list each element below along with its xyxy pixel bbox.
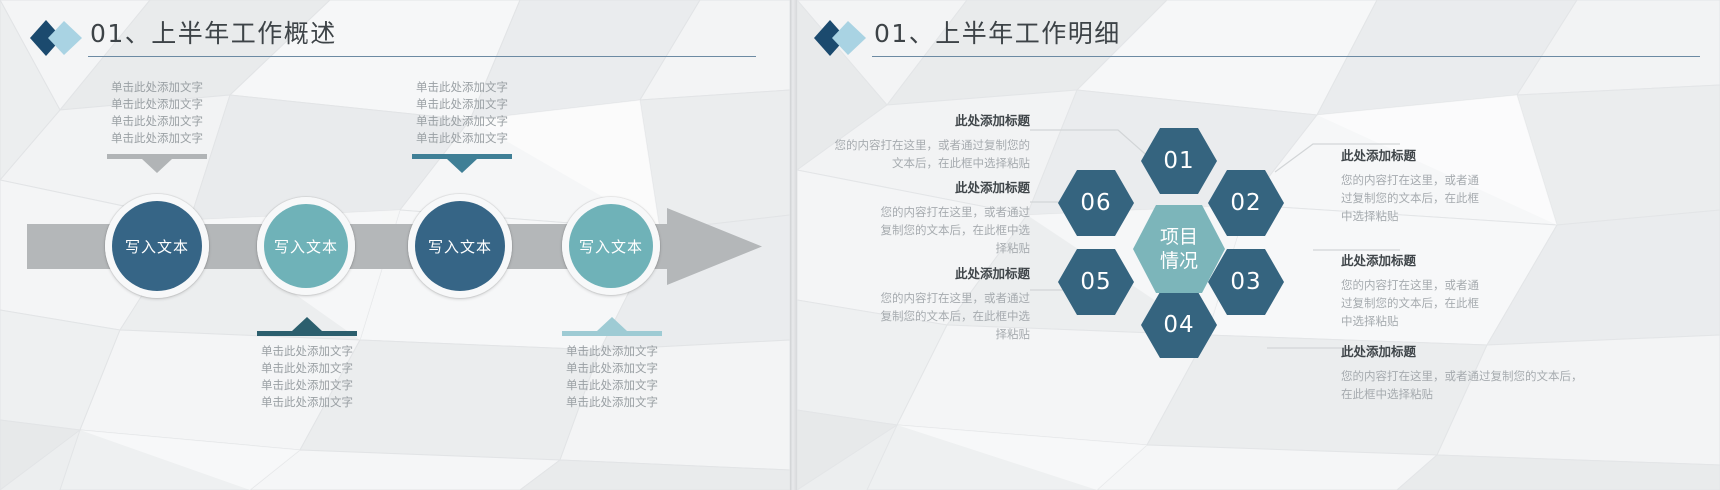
node-label-1: 写入文本	[112, 201, 202, 291]
callout-1: 单击此处添加文字 单击此处添加文字 单击此处添加文字 单击此处添加文字	[87, 79, 227, 173]
process-node-4[interactable]: 写入文本	[562, 197, 660, 295]
diamond-bullet-icon	[812, 18, 872, 58]
hexagon-center-line1: 项目	[1160, 226, 1198, 248]
detail-text-4-heading: 此处添加标题	[1341, 145, 1481, 164]
process-node-3[interactable]: 写入文本	[408, 194, 512, 298]
process-node-1[interactable]: 写入文本	[105, 194, 209, 298]
detail-text-1-body: 您的内容打在这里，或者通过复制您的文本后，在此框中选择粘贴	[830, 136, 1030, 172]
detail-text-3-body: 您的内容打在这里，或者通过复制您的文本后，在此框中选择粘贴	[880, 289, 1030, 343]
callout-line: 单击此处添加文字	[392, 96, 532, 113]
detail-text-4-body: 您的内容打在这里，或者通过复制您的文本后，在此框中选择粘贴	[1341, 171, 1481, 225]
detail-text-6-heading: 此处添加标题	[1341, 341, 1591, 360]
detail-text-3: 此处添加标题 您的内容打在这里，或者通过复制您的文本后，在此框中选择粘贴	[880, 263, 1030, 343]
detail-text-3-heading: 此处添加标题	[880, 263, 1030, 282]
process-node-2[interactable]: 写入文本	[257, 197, 355, 295]
hexagon-05-number: 05	[1080, 269, 1111, 295]
node-label-2: 写入文本	[264, 204, 348, 288]
detail-text-6-body: 您的内容打在这里，或者通过复制您的文本后，在此框中选择粘贴	[1341, 367, 1591, 403]
detail-text-5-heading: 此处添加标题	[1341, 250, 1481, 269]
callout-4: 单击此处添加文字 单击此处添加文字 单击此处添加文字 单击此处添加文字	[542, 317, 682, 411]
slide-divider	[790, 0, 797, 490]
callout-line: 单击此处添加文字	[237, 360, 377, 377]
node-label-3: 写入文本	[415, 201, 505, 291]
detail-text-1-heading: 此处添加标题	[830, 110, 1030, 129]
callout-3-bar	[257, 331, 357, 336]
callout-4-bar	[562, 331, 662, 336]
callout-1-pointer-icon	[142, 159, 172, 173]
callout-3: 单击此处添加文字 单击此处添加文字 单击此处添加文字 单击此处添加文字	[237, 317, 377, 411]
callout-3-pointer-icon	[292, 317, 322, 331]
callout-line: 单击此处添加文字	[392, 113, 532, 130]
callout-line: 单击此处添加文字	[87, 96, 227, 113]
hexagon-06-number: 06	[1080, 190, 1111, 216]
slide-title-right: 01、上半年工作明细	[874, 14, 1121, 50]
diamond-bullet-icon	[28, 18, 88, 58]
callout-1-lines: 单击此处添加文字 单击此处添加文字 单击此处添加文字 单击此处添加文字	[87, 79, 227, 147]
callout-line: 单击此处添加文字	[392, 130, 532, 147]
detail-text-2: 此处添加标题 您的内容打在这里，或者通过复制您的文本后，在此框中选择粘贴	[880, 177, 1030, 257]
callout-2-pointer-icon	[447, 159, 477, 173]
callout-line: 单击此处添加文字	[87, 113, 227, 130]
callout-line: 单击此处添加文字	[542, 377, 682, 394]
callout-line: 单击此处添加文字	[237, 343, 377, 360]
callout-line: 单击此处添加文字	[237, 377, 377, 394]
slide-header-right: 01、上半年工作明细	[812, 16, 1702, 60]
hexagon-01-number: 01	[1163, 148, 1194, 174]
callout-2: 单击此处添加文字 单击此处添加文字 单击此处添加文字 单击此处添加文字	[392, 79, 532, 173]
callout-3-lines: 单击此处添加文字 单击此处添加文字 单击此处添加文字 单击此处添加文字	[237, 343, 377, 411]
node-label-4: 写入文本	[569, 204, 653, 288]
detail-text-2-heading: 此处添加标题	[880, 177, 1030, 196]
callout-2-lines: 单击此处添加文字 单击此处添加文字 单击此处添加文字 单击此处添加文字	[392, 79, 532, 147]
callout-line: 单击此处添加文字	[542, 343, 682, 360]
slide-header-left: 01、上半年工作概述	[28, 16, 758, 60]
hexagon-04-number: 04	[1163, 312, 1194, 338]
callout-4-lines: 单击此处添加文字 单击此处添加文字 单击此处添加文字 单击此处添加文字	[542, 343, 682, 411]
callout-line: 单击此处添加文字	[542, 360, 682, 377]
detail-text-1: 此处添加标题 您的内容打在这里，或者通过复制您的文本后，在此框中选择粘贴	[830, 110, 1030, 172]
hexagon-center-label: 项目 情况	[1160, 225, 1198, 273]
title-rule-right	[872, 56, 1700, 57]
detail-text-5: 此处添加标题 您的内容打在这里，或者通过复制您的文本后，在此框中选择粘贴	[1341, 250, 1481, 330]
presentation-stage: 01、上半年工作概述 写入文本 写入文本 写入文本 写入文本 单击此处添加文字	[0, 0, 1720, 490]
detail-text-2-body: 您的内容打在这里，或者通过复制您的文本后，在此框中选择粘贴	[880, 203, 1030, 257]
callout-line: 单击此处添加文字	[87, 130, 227, 147]
callout-line: 单击此处添加文字	[542, 394, 682, 411]
detail-text-6: 此处添加标题 您的内容打在这里，或者通过复制您的文本后，在此框中选择粘贴	[1341, 341, 1591, 403]
callout-line: 单击此处添加文字	[237, 394, 377, 411]
detail-text-5-body: 您的内容打在这里，或者通过复制您的文本后，在此框中选择粘贴	[1341, 276, 1481, 330]
callout-line: 单击此处添加文字	[392, 79, 532, 96]
hexagon-03-number: 03	[1230, 269, 1261, 295]
slide-left: 01、上半年工作概述 写入文本 写入文本 写入文本 写入文本 单击此处添加文字	[0, 0, 790, 490]
slide-title-left: 01、上半年工作概述	[90, 14, 337, 50]
title-rule-left	[88, 56, 756, 57]
callout-4-pointer-icon	[597, 317, 627, 331]
hexagon-center-line2: 情况	[1160, 250, 1198, 272]
hexagon-02-number: 02	[1230, 190, 1261, 216]
detail-text-4: 此处添加标题 您的内容打在这里，或者通过复制您的文本后，在此框中选择粘贴	[1341, 145, 1481, 225]
callout-line: 单击此处添加文字	[87, 79, 227, 96]
